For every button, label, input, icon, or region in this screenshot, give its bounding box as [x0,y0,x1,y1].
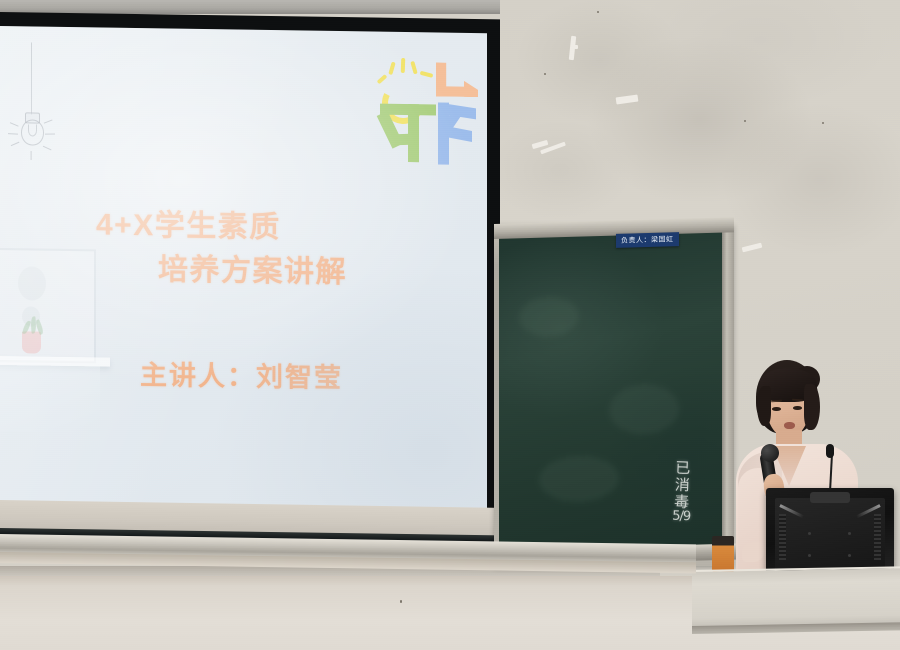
chalk-char-2: 消 [662,476,703,494]
wall-speck [822,122,824,124]
presenter-eye-right [793,406,802,410]
classroom-photo-scene: 4+X学生素质 培养方案讲解 主讲人：刘智莹 负责人：梁国虹 已 消 毒 5/9 [0,0,900,650]
podium-monitor-screw [808,554,811,557]
chalk-char-1: 已 [663,459,704,477]
light-bulb-ray [45,133,55,134]
podium-monitor-notch [810,492,850,503]
projection-screen-border: 4+X学生素质 培养方案讲解 主讲人：刘智莹 [0,12,500,537]
light-bulb-ray [8,133,18,135]
school-emblem-logo [378,56,487,170]
slide-subtitle-speaker: 主讲人：刘智莹 [140,353,343,395]
slide-photo-floor [0,365,100,433]
presenter-eye-left [772,407,781,411]
blackboard-chalk-note: 已 消 毒 5/9 [661,459,703,525]
logo-sun-ray [401,58,406,73]
gooseneck-microphone-head [826,444,834,458]
chalk-date: 5/9 [661,510,701,526]
logo-sun-ray [388,62,395,76]
podium-monitor-vent-left [779,514,786,560]
presenter-sleeve-tie [742,542,764,562]
logo-sun-ray [410,61,417,75]
podium-monitor-vent-right [874,514,881,560]
logo-sun-ray [420,71,434,78]
blackboard: 负责人：梁国虹 已 消 毒 5/9 [494,224,734,566]
light-bulb-cord [31,42,32,114]
light-bulb-ray [30,151,31,160]
podium-monitor-screw [848,554,851,557]
slide-title-line2: 培养方案讲解 [96,248,466,298]
wall-speck [400,600,402,603]
light-bulb-ray [11,142,20,147]
chalk-smudge [609,383,679,435]
slide-title-line1: 4+X学生素质 [96,208,281,244]
slide-plant-pot [22,331,41,353]
wall-speck [544,73,546,75]
wall-speck [744,120,746,122]
presenter-mouth [784,422,795,429]
orange-cup [712,536,734,572]
wall-speck [597,11,599,13]
projection-screen-surface: 4+X学生素质 培养方案讲解 主讲人：刘智莹 [0,26,487,523]
logo-green-foot [392,134,415,146]
logo-orange-accent [464,81,478,97]
light-bulb-filament [28,124,37,136]
light-bulb-ray [43,146,52,151]
presenter-hair-side-left [757,386,771,426]
presenter-hair-side-right [804,384,820,430]
podium-monitor-screw [848,532,851,535]
light-bulb-ray [44,119,53,123]
blackboard-responsible-person-label: 负责人：梁国虹 [616,232,679,248]
chalk-smudge [539,455,619,503]
chalk-smudge [519,296,579,338]
slide-title: 4+X学生素质 培养方案讲解 [96,203,466,297]
slide-photo-frame [0,248,96,364]
logo-sun-ray [377,74,388,84]
light-bulb-ray [10,122,19,127]
screen-top-frame [0,0,500,14]
podium-monitor-screw [808,532,811,535]
